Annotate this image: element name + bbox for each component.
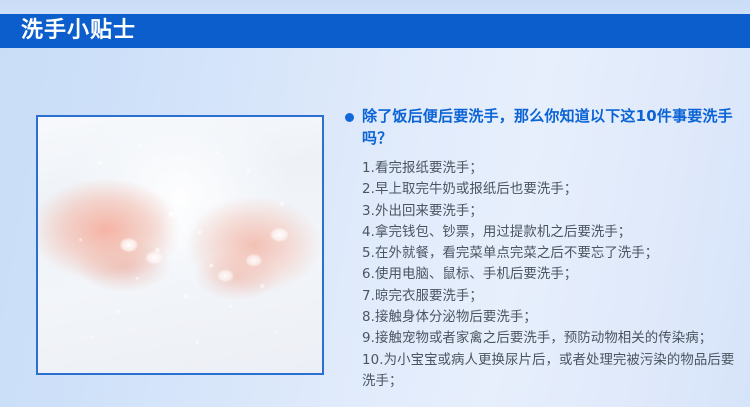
content-area: 除了饭后便后要洗手，那么你知道以下这10件事要洗手吗？ 1.看完报纸要洗手； 2…	[0, 48, 750, 407]
list-item: 7.晾完衣服要洗手；	[362, 286, 743, 307]
list-item: 9.接触宠物或者家禽之后要洗手，预防动物相关的传染病；	[362, 328, 743, 349]
tips-list: 1.看完报纸要洗手； 2.早上取完牛奶或报纸后也要洗手； 3.外出回来要洗手； …	[345, 158, 743, 392]
handwashing-photo	[36, 115, 324, 375]
list-item: 6.使用电脑、鼠标、手机后要洗手；	[362, 264, 743, 285]
list-item: 5.在外就餐，看完菜单点完菜之后不要忘了洗手；	[362, 243, 743, 264]
tips-text-column: 除了饭后便后要洗手，那么你知道以下这10件事要洗手吗？ 1.看完报纸要洗手； 2…	[345, 105, 743, 392]
lead-question-block: 除了饭后便后要洗手，那么你知道以下这10件事要洗手吗？	[345, 105, 743, 149]
list-item: 2.早上取完牛奶或报纸后也要洗手；	[362, 179, 743, 200]
top-accent-strip	[0, 0, 750, 14]
lead-question-text: 除了饭后便后要洗手，那么你知道以下这10件事要洗手吗？	[362, 105, 743, 149]
list-item: 3.外出回来要洗手；	[362, 201, 743, 222]
bullet-dot-icon	[345, 113, 354, 122]
list-item: 1.看完报纸要洗手；	[362, 158, 743, 179]
list-item: 10.为小宝宝或病人更换尿片后，或者处理完被污染的物品后要洗手；	[362, 350, 743, 393]
photo-water-droplets-detail	[38, 117, 322, 373]
list-item: 8.接触身体分泌物后要洗手；	[362, 307, 743, 328]
page-title-bar: 洗手小贴士	[0, 14, 750, 48]
page-title: 洗手小贴士	[21, 20, 136, 42]
list-item: 4.拿完钱包、钞票，用过提款机之后要洗手；	[362, 222, 743, 243]
